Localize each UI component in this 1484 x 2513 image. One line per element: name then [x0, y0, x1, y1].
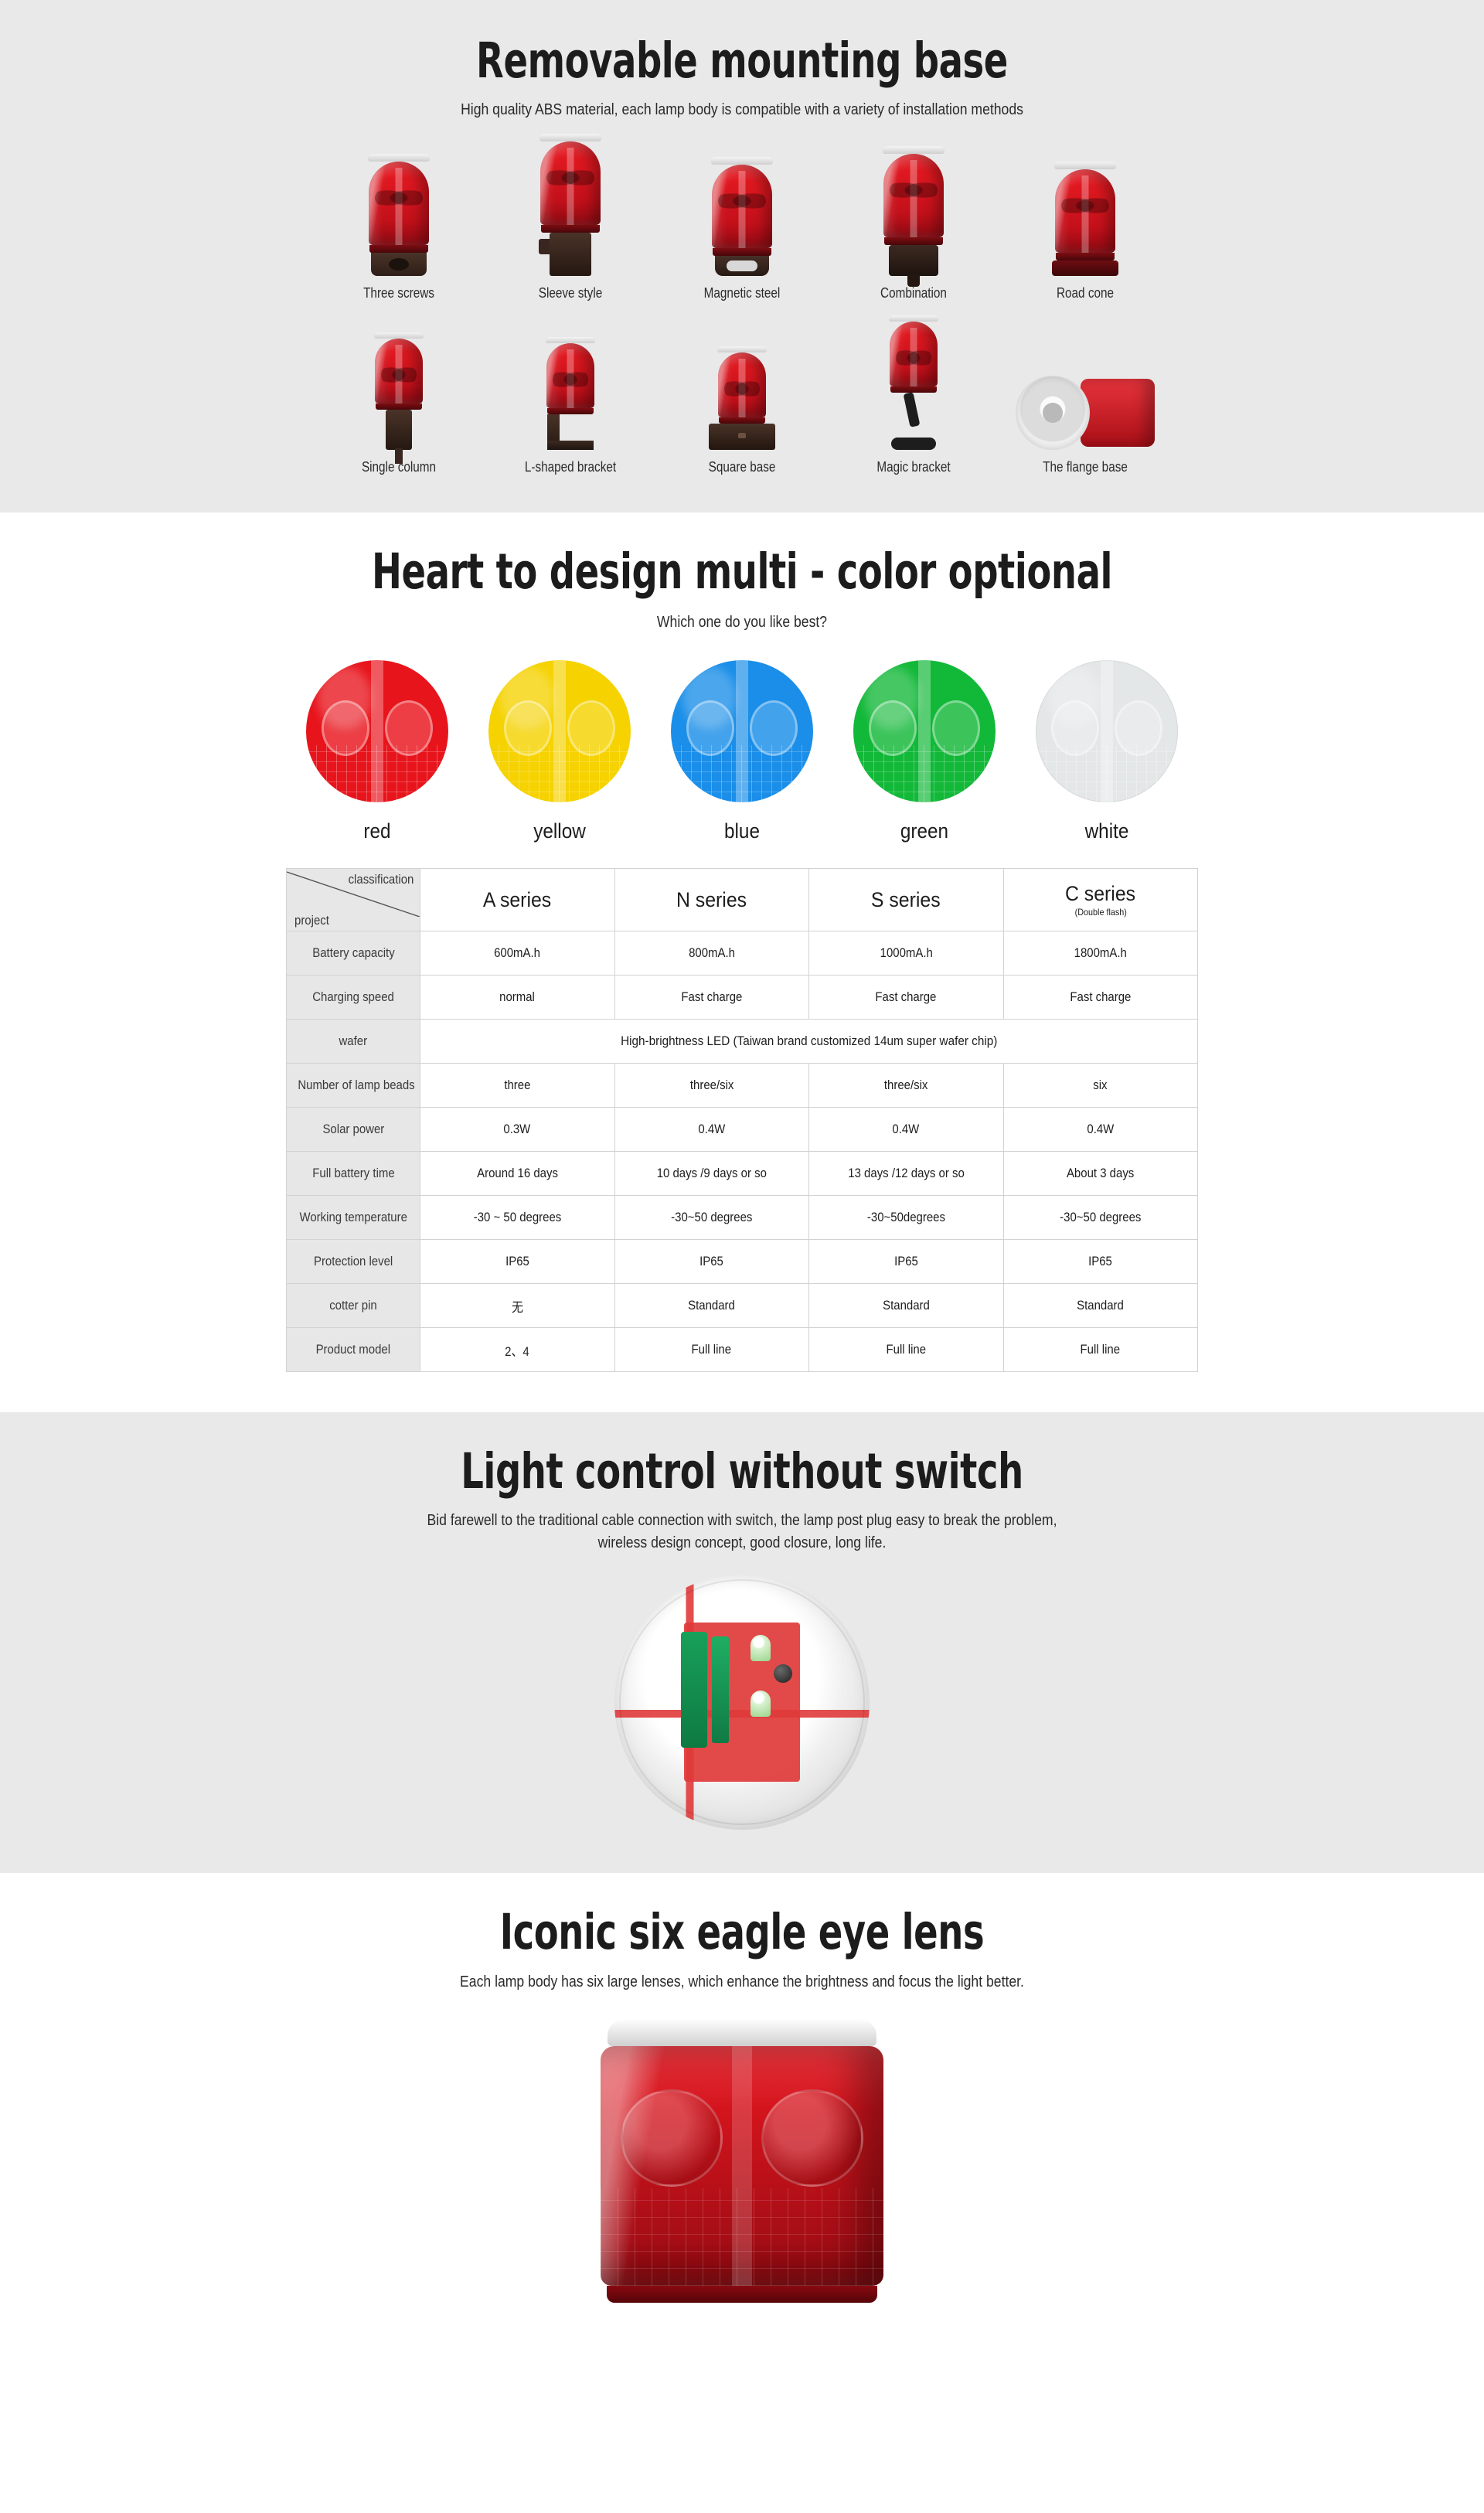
flange-base-image — [999, 318, 1171, 450]
table-cell-value: normal — [499, 989, 535, 1005]
base-item-flange-base[interactable]: The flange base — [999, 318, 1171, 475]
table-cell-value: IP65 — [699, 1254, 723, 1269]
table-cell-value: -30~50 degrees — [1060, 1210, 1141, 1225]
row-header-label: Protection level — [314, 1254, 393, 1269]
table-cell-value: 无 — [512, 1296, 523, 1316]
color-option-red[interactable]: red — [306, 660, 448, 843]
table-cell: IP65 — [1003, 1240, 1198, 1284]
table-cell: Standard — [1003, 1284, 1198, 1328]
color-disc — [853, 660, 996, 802]
table-cell-value: 1800mA.h — [1074, 945, 1127, 961]
bases-subtitle: High quality ABS material, each lamp bod… — [89, 99, 1395, 121]
column-header-label: S series — [871, 888, 941, 912]
base-label: Magic bracket — [841, 459, 987, 475]
base-item-magnetic-steel[interactable]: Magnetic steel — [656, 145, 828, 301]
base-item-single-column[interactable]: Single column — [313, 318, 485, 475]
base-label: L-shaped bracket — [498, 459, 644, 475]
row-header-cell: Product model — [287, 1328, 420, 1372]
row-header-cell: wafer — [287, 1020, 420, 1064]
column-header-label: C series — [1065, 882, 1135, 906]
table-cell-value: Fast charge — [876, 989, 937, 1005]
base-label: Magnetic steel — [669, 285, 815, 301]
color-label: white — [1043, 819, 1171, 843]
color-option-blue[interactable]: blue — [671, 660, 813, 843]
table-cell-value: three/six — [689, 1078, 733, 1093]
table-cell-value: -30 ~ 50 degrees — [473, 1210, 561, 1225]
product-detail-page: Removable mounting base High quality ABS… — [0, 0, 1484, 2303]
row-header-cell: Protection level — [287, 1240, 420, 1284]
table-cell: 0.4W — [809, 1108, 1004, 1152]
table-cell: About 3 days — [1003, 1152, 1198, 1196]
row-header-cell: Working temperature — [287, 1196, 420, 1240]
base-label: Three screws — [326, 285, 472, 301]
table-cell: Fast charge — [1003, 976, 1198, 1020]
table-cell-value: About 3 days — [1067, 1166, 1134, 1181]
lens-product-image-wrap — [0, 2020, 1484, 2303]
corner-top-label: classification — [348, 872, 414, 887]
table-cell: -30~50 degrees — [614, 1196, 809, 1240]
base-label: The flange base — [1013, 459, 1159, 475]
specification-table: classification project A series N series… — [286, 868, 1198, 1372]
table-cell-span: High-brightness LED (Taiwan brand custom… — [420, 1020, 1198, 1064]
table-cell-value: High-brightness LED (Taiwan brand custom… — [621, 1033, 997, 1049]
table-cell: three/six — [614, 1064, 809, 1108]
base-label: Combination — [841, 285, 987, 301]
table-cell: 0.4W — [1003, 1108, 1198, 1152]
color-option-green[interactable]: green — [853, 660, 996, 843]
table-cell-value: Around 16 days — [477, 1166, 558, 1181]
row-header-label: Product model — [316, 1342, 390, 1357]
table-row: Battery capacity600mA.h800mA.h1000mA.h18… — [287, 931, 1198, 976]
table-cell: three/six — [809, 1064, 1004, 1108]
row-header-cell: Battery capacity — [287, 931, 420, 976]
table-cell-value: 800mA.h — [689, 945, 735, 961]
table-cell-value: Standard — [1077, 1298, 1124, 1313]
three-screws-image — [313, 145, 485, 276]
table-row: waferHigh-brightness LED (Taiwan brand c… — [287, 1020, 1198, 1064]
color-label: yellow — [495, 819, 624, 843]
table-row: Charging speednormalFast chargeFast char… — [287, 976, 1198, 1020]
table-cell: Around 16 days — [420, 1152, 615, 1196]
table-row: Working temperature-30 ~ 50 degrees-30~5… — [287, 1196, 1198, 1240]
table-cell: 0.4W — [614, 1108, 809, 1152]
base-item-sleeve-style[interactable]: Sleeve style — [485, 145, 656, 301]
section-multi-color-optional: Heart to design multi - color optional W… — [0, 512, 1484, 1412]
eagle-eye-lens-icon — [761, 2089, 863, 2187]
column-header-c-series: C series(Double flash) — [1003, 869, 1198, 931]
color-label: green — [860, 819, 989, 843]
base-label: Road cone — [1013, 285, 1159, 301]
light-control-title: Light control without switch — [134, 1446, 1350, 1497]
color-disc — [306, 660, 448, 802]
base-item-square-base[interactable]: Square base — [656, 318, 828, 475]
table-cell-value: 1000mA.h — [880, 945, 932, 961]
table-cell: 13 days /12 days or so — [809, 1152, 1004, 1196]
row-header-cell: Solar power — [287, 1108, 420, 1152]
combination-image — [828, 145, 999, 276]
table-cell: Full line — [809, 1328, 1004, 1372]
table-cell: six — [1003, 1064, 1198, 1108]
table-cell: Standard — [809, 1284, 1004, 1328]
table-cell: Full line — [1003, 1328, 1198, 1372]
column-header-s-series: S series — [809, 869, 1004, 931]
table-cell-value: 10 days /9 days or so — [657, 1166, 767, 1181]
table-cell-value: IP65 — [505, 1254, 529, 1269]
colors-subtitle: Which one do you like best? — [89, 611, 1395, 634]
table-cell: normal — [420, 976, 615, 1020]
table-cell-value: 2、4 — [505, 1340, 529, 1360]
table-cell: 10 days /9 days or so — [614, 1152, 809, 1196]
section-light-control: Light control without switch Bid farewel… — [0, 1412, 1484, 1873]
column-header-label: N series — [676, 888, 747, 912]
table-row: Protection levelIP65IP65IP65IP65 — [287, 1240, 1198, 1284]
table-cell-value: IP65 — [894, 1254, 918, 1269]
table-row: Number of lamp beadsthreethree/sixthree/… — [287, 1064, 1198, 1108]
lens-subtitle: Each lamp body has six large lenses, whi… — [89, 1971, 1395, 1994]
row-header-label: wafer — [339, 1033, 368, 1049]
base-item-magic-bracket[interactable]: Magic bracket — [828, 318, 999, 475]
lens-title: Iconic six eagle eye lens — [134, 1907, 1350, 1958]
table-cell: Fast charge — [614, 976, 809, 1020]
table-cell: Standard — [614, 1284, 809, 1328]
row-header-cell: Charging speed — [287, 976, 420, 1020]
page-title: Removable mounting base — [134, 36, 1350, 87]
base-item-three-screws[interactable]: Three screws — [313, 145, 485, 301]
table-cell: IP65 — [420, 1240, 615, 1284]
table-cell-value: Full line — [1081, 1342, 1121, 1357]
table-row: Product model2、4Full lineFull lineFull l… — [287, 1328, 1198, 1372]
table-cell: IP65 — [809, 1240, 1004, 1284]
colors-title: Heart to design multi - color optional — [134, 547, 1350, 598]
table-cell: 0.3W — [420, 1108, 615, 1152]
color-label: blue — [678, 819, 806, 843]
table-cell: 800mA.h — [614, 931, 809, 976]
column-header-n-series: N series — [614, 869, 809, 931]
table-cell-value: three/six — [884, 1078, 928, 1093]
section-removable-mounting-base: Removable mounting base High quality ABS… — [0, 0, 1484, 512]
table-cell: Fast charge — [809, 976, 1004, 1020]
table-cell: IP65 — [614, 1240, 809, 1284]
light-control-subtitle-line2: wireless design concept, good closure, l… — [598, 1534, 887, 1551]
color-disc — [1036, 660, 1178, 802]
table-cell-value: three — [504, 1078, 530, 1093]
row-header-label: Working temperature — [299, 1210, 407, 1225]
color-disc — [488, 660, 631, 802]
single-column-image — [313, 318, 485, 450]
table-cell-value: 600mA.h — [494, 945, 540, 961]
magnetic-steel-image — [656, 145, 828, 276]
table-corner-cell: classification project — [287, 869, 420, 931]
table-row: cotter pin无StandardStandardStandard — [287, 1284, 1198, 1328]
table-cell-value: 0.4W — [698, 1122, 725, 1137]
column-header-note: (Double flash) — [1016, 907, 1185, 918]
base-label: Single column — [326, 459, 472, 475]
sleeve-style-image — [485, 145, 656, 276]
table-cell-value: six — [1094, 1078, 1108, 1093]
table-cell-value: IP65 — [1088, 1254, 1112, 1269]
magic-bracket-image — [828, 318, 999, 450]
table-cell-value: 13 days /12 days or so — [848, 1166, 965, 1181]
table-cell-value: -30~50 degrees — [671, 1210, 752, 1225]
eagle-eye-lens-icon — [621, 2089, 723, 2187]
color-option-white[interactable]: white — [1036, 660, 1178, 843]
row-header-label: cotter pin — [329, 1298, 377, 1313]
base-item-combination[interactable]: Combination — [828, 145, 999, 301]
row-header-label: Charging speed — [312, 989, 394, 1005]
table-cell-value: 0.3W — [504, 1122, 531, 1137]
table-cell: 2、4 — [420, 1328, 615, 1372]
row-header-cell: Number of lamp beads — [287, 1064, 420, 1108]
row-header-cell: cotter pin — [287, 1284, 420, 1328]
table-cell: 600mA.h — [420, 931, 615, 976]
base-item-road-cone[interactable]: Road cone — [999, 145, 1171, 301]
table-row: Solar power0.3W0.4W0.4W0.4W — [287, 1108, 1198, 1152]
table-cell-value: -30~50degrees — [867, 1210, 945, 1225]
light-control-subtitle-line1: Bid farewell to the traditional cable co… — [427, 1512, 1057, 1529]
table-cell: -30~50 degrees — [1003, 1196, 1198, 1240]
color-label: red — [313, 819, 441, 843]
table-cell-value: Standard — [688, 1298, 735, 1313]
table-header-row: classification project A series N series… — [287, 869, 1198, 931]
base-label: Square base — [669, 459, 815, 475]
table-cell: 1800mA.h — [1003, 931, 1198, 976]
square-base-image — [656, 318, 828, 450]
row-header-cell: Full battery time — [287, 1152, 420, 1196]
circuit-board-image — [614, 1575, 870, 1830]
table-cell-value: 0.4W — [893, 1122, 920, 1137]
lens-product-image — [599, 2020, 885, 2303]
light-control-subtitle: Bid farewell to the traditional cable co… — [89, 1510, 1395, 1554]
row-header-label: Solar power — [322, 1122, 384, 1137]
color-option-yellow[interactable]: yellow — [488, 660, 631, 843]
table-cell: 无 — [420, 1284, 615, 1328]
base-item-l-shaped-bracket[interactable]: L-shaped bracket — [485, 318, 656, 475]
l-shaped-bracket-image — [485, 318, 656, 450]
row-header-label: Battery capacity — [312, 945, 394, 961]
color-disc — [671, 660, 813, 802]
table-cell: three — [420, 1064, 615, 1108]
table-cell-value: Standard — [883, 1298, 930, 1313]
table-cell-value: Fast charge — [1070, 989, 1131, 1005]
table-cell-value: Full line — [692, 1342, 732, 1357]
base-label: Sleeve style — [498, 285, 644, 301]
corner-bottom-label: project — [294, 913, 329, 928]
row-header-label: Number of lamp beads — [298, 1078, 414, 1093]
row-header-label: Full battery time — [312, 1166, 394, 1181]
column-header-a-series: A series — [420, 869, 615, 931]
table-cell: -30 ~ 50 degrees — [420, 1196, 615, 1240]
column-header-label: A series — [483, 888, 551, 912]
road-cone-image — [999, 145, 1171, 276]
table-cell: -30~50degrees — [809, 1196, 1004, 1240]
section-eagle-eye-lens: Iconic six eagle eye lens Each lamp body… — [0, 1873, 1484, 2302]
color-swatch-row: red yellow blue — [286, 660, 1198, 843]
table-cell: Full line — [614, 1328, 809, 1372]
table-cell-value: 0.4W — [1087, 1122, 1114, 1137]
mounting-base-grid: Three screws Sleeve style Magnetic steel — [313, 145, 1171, 475]
table-cell-value: Fast charge — [681, 989, 742, 1005]
table-cell: 1000mA.h — [809, 931, 1004, 976]
table-cell-value: Full line — [886, 1342, 926, 1357]
circuit-board-image-wrap — [0, 1575, 1484, 1830]
table-row: Full battery timeAround 16 days10 days /… — [287, 1152, 1198, 1196]
